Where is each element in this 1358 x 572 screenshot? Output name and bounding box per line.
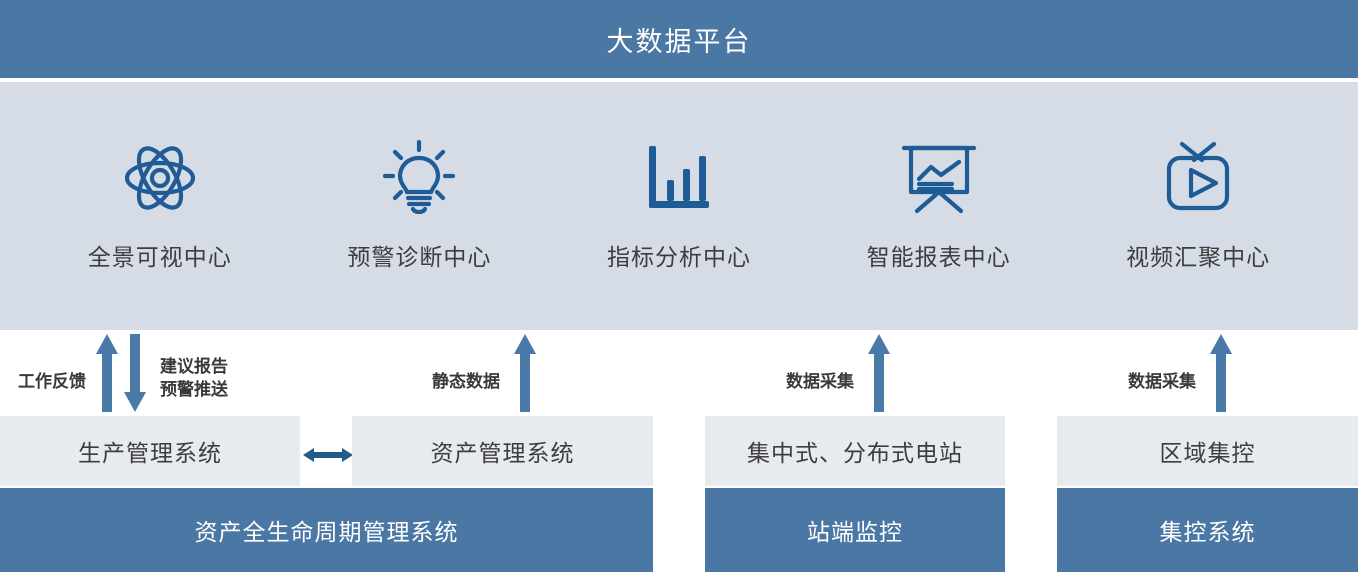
platform-capability-panel: 全景可视中心 [0, 82, 1358, 330]
flow-group-production: 工作反馈 建议报告 预警推送 [18, 330, 228, 416]
flow-group-station: 数据采集 [786, 330, 890, 416]
capability-label: 全景可视中心 [88, 238, 232, 272]
base-box-label: 站端监控 [807, 513, 903, 547]
system-box-production-management[interactable]: 生产管理系统 [0, 416, 300, 486]
base-box-station-monitoring[interactable]: 站端监控 [705, 488, 1005, 572]
capability-card-smart-report[interactable]: 智能报表中心 [829, 140, 1049, 272]
base-box-asset-lifecycle[interactable]: 资产全生命周期管理系统 [0, 488, 653, 572]
system-box-label: 集中式、分布式电站 [747, 434, 963, 468]
flow-label-data-collection: 数据采集 [786, 371, 854, 394]
base-box-label: 集控系统 [1160, 513, 1256, 547]
arrow-up-icon [868, 334, 890, 412]
page-title: 大数据平台 [607, 20, 752, 59]
system-box-label: 区域集控 [1160, 434, 1256, 468]
flow-label-report-push-line2: 预警推送 [160, 379, 228, 402]
system-box-regional-control[interactable]: 区域集控 [1057, 416, 1358, 486]
system-box-centralized-distributed-plant[interactable]: 集中式、分布式电站 [705, 416, 1005, 486]
presentation-board-icon [900, 140, 978, 216]
header-banner: 大数据平台 [0, 0, 1358, 78]
arrow-down-icon [124, 334, 146, 412]
capability-card-warning-diagnosis[interactable]: 预警诊断中心 [309, 140, 529, 272]
capability-card-metric-analysis[interactable]: 指标分析中心 [569, 140, 789, 272]
capability-label: 视频汇聚中心 [1126, 238, 1270, 272]
capability-card-panorama[interactable]: 全景可视中心 [50, 140, 270, 272]
flow-group-asset: 静态数据 [432, 330, 536, 416]
system-box-asset-management[interactable]: 资产管理系统 [352, 416, 653, 486]
bidirectional-arrow-icon [303, 444, 353, 466]
flow-label-static-data: 静态数据 [432, 371, 500, 394]
system-box-label: 资产管理系统 [431, 434, 575, 468]
capability-label: 智能报表中心 [867, 238, 1011, 272]
lightbulb-icon [382, 140, 456, 216]
flow-label-report-push-line1: 建议报告 [160, 356, 228, 379]
video-player-icon [1160, 140, 1236, 216]
arrow-up-icon [96, 334, 118, 412]
flow-group-regional: 数据采集 [1128, 330, 1232, 416]
system-box-label: 生产管理系统 [78, 434, 222, 468]
flow-label-work-feedback: 工作反馈 [18, 371, 86, 394]
flow-arrow-band: 工作反馈 建议报告 预警推送 静态数据 数据采集 数据采集 [0, 330, 1358, 416]
arrow-up-icon [1210, 334, 1232, 412]
capability-label: 指标分析中心 [607, 238, 751, 272]
base-box-label: 资产全生命周期管理系统 [195, 513, 459, 547]
flow-label-data-collection: 数据采集 [1128, 371, 1196, 394]
capability-row: 全景可视中心 [0, 82, 1358, 330]
base-box-centralized-control-system[interactable]: 集控系统 [1057, 488, 1358, 572]
capability-card-video-aggregation[interactable]: 视频汇聚中心 [1088, 140, 1308, 272]
atom-orbit-icon [123, 140, 197, 216]
arrow-up-icon [514, 334, 536, 412]
capability-label: 预警诊断中心 [347, 238, 491, 272]
bar-chart-icon [642, 140, 716, 216]
flow-label-report-push: 建议报告 预警推送 [160, 356, 228, 402]
